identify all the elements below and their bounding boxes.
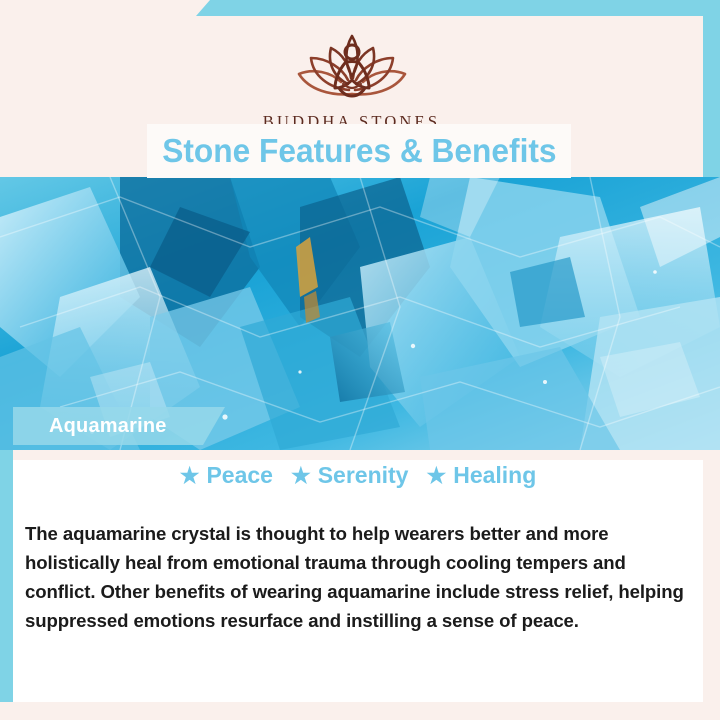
brand-logo: BUDDHA STONES <box>0 30 703 132</box>
right-accent-band <box>703 0 720 202</box>
description-text: The aquamarine crystal is thought to hel… <box>25 519 689 635</box>
benefit-item-serenity: ★ Serenity <box>291 462 409 489</box>
star-icon: ★ <box>180 465 200 487</box>
top-accent-band <box>196 0 720 16</box>
left-accent-band <box>0 440 13 702</box>
benefit-item-peace: ★ Peace <box>180 462 273 489</box>
panel-top-stripe <box>13 450 703 460</box>
page-title: Stone Features & Benefits <box>162 132 556 170</box>
benefit-label: Healing <box>453 462 536 489</box>
stone-features-card: BUDDHA STONES Stone Features & Benefits <box>0 0 720 720</box>
content-panel: ★ Peace ★ Serenity ★ Healing The aquamar… <box>13 450 703 702</box>
benefit-label: Serenity <box>318 462 409 489</box>
lotus-meditation-icon <box>269 30 435 106</box>
stone-name: Aquamarine <box>13 415 167 438</box>
title-banner: Stone Features & Benefits <box>147 124 571 178</box>
stone-name-label: Aquamarine <box>13 407 225 445</box>
benefits-row: ★ Peace ★ Serenity ★ Healing <box>13 462 703 489</box>
star-icon: ★ <box>426 465 446 487</box>
benefit-label: Peace <box>206 462 273 489</box>
star-icon: ★ <box>291 465 311 487</box>
benefit-item-healing: ★ Healing <box>426 462 536 489</box>
